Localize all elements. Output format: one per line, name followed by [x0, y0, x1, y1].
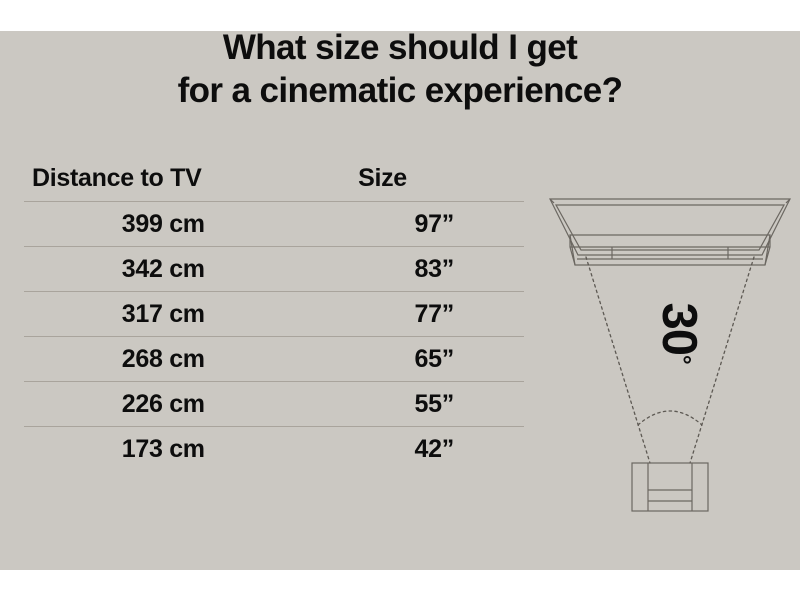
cell-distance: 268 cm: [24, 345, 363, 374]
cell-distance: 173 cm: [24, 435, 363, 464]
viewing-angle-label: 30°: [634, 288, 724, 378]
cell-size: 83”: [363, 255, 524, 284]
size-recommendation-table: Distance to TV Size 399 cm 97” 342 cm 83…: [24, 155, 524, 472]
title-line-1: What size should I get: [0, 26, 800, 69]
tv-top-view-icon: [550, 199, 790, 265]
cell-distance: 399 cm: [24, 210, 363, 239]
cell-size: 65”: [363, 345, 524, 374]
table-row: 226 cm 55”: [24, 382, 524, 427]
table-row: 342 cm 83”: [24, 247, 524, 292]
cell-distance: 226 cm: [24, 390, 363, 419]
title-line-2: for a cinematic experience?: [0, 69, 800, 112]
cell-distance: 317 cm: [24, 300, 363, 329]
cell-size: 97”: [363, 210, 524, 239]
cell-distance: 342 cm: [24, 255, 363, 284]
cell-size: 77”: [363, 300, 524, 329]
table-row: 268 cm 65”: [24, 337, 524, 382]
page-title: What size should I get for a cinematic e…: [0, 26, 800, 112]
table-row: 173 cm 42”: [24, 427, 524, 472]
degree-symbol: °: [668, 355, 695, 364]
viewing-angle-value: 30: [652, 302, 706, 355]
table-row: 399 cm 97”: [24, 202, 524, 247]
column-header-distance: Distance to TV: [24, 164, 354, 193]
cell-size: 55”: [363, 390, 524, 419]
table-header-row: Distance to TV Size: [24, 155, 524, 202]
column-header-size: Size: [354, 164, 524, 193]
table-row: 317 cm 77”: [24, 292, 524, 337]
sofa-top-view-icon: [632, 463, 708, 511]
cell-size: 42”: [363, 435, 524, 464]
infographic-canvas: What size should I get for a cinematic e…: [0, 0, 800, 600]
